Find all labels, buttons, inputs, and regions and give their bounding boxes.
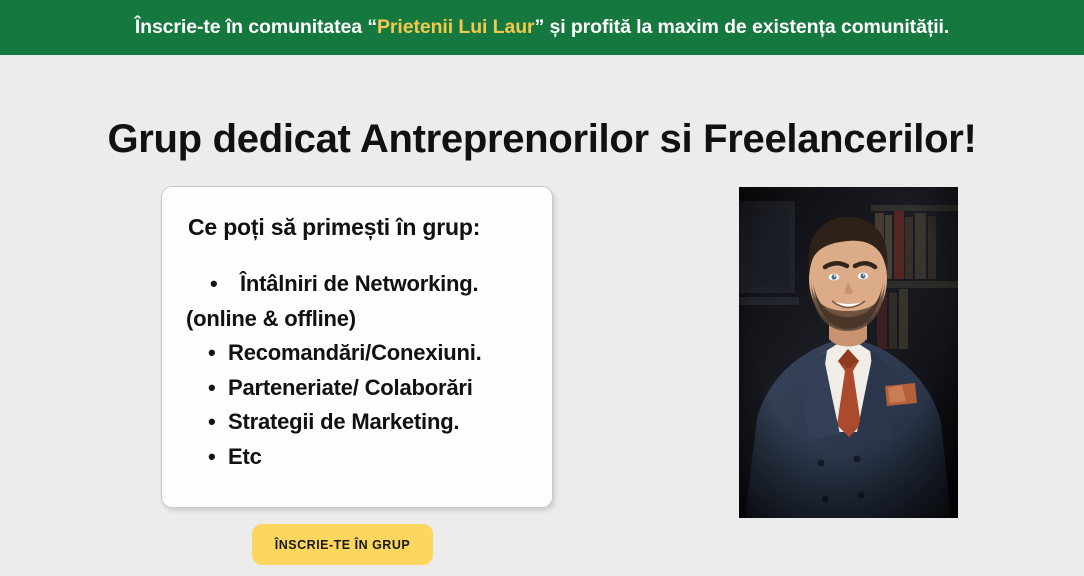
banner-text-after: ” și profită la maxim de existența comun… (535, 16, 950, 38)
list-item: Recomandări/Conexiuni. (186, 336, 528, 371)
banner-text-before: Înscrie-te în comunitatea “ (135, 16, 377, 38)
benefits-list: Întâlniri de Networking. (online & offli… (186, 267, 528, 474)
list-item-label: Parteneriate/ Colaborări (228, 375, 473, 400)
benefits-card: Ce poți să primești în grup: Întâlniri d… (161, 186, 553, 508)
list-item-label: Întâlniri de Networking. (240, 271, 478, 296)
list-item-label: Etc (228, 444, 262, 469)
benefits-card-title: Ce poți să primești în grup: (188, 213, 528, 241)
main-content: Ce poți să primești în grup: Întâlniri d… (0, 186, 1084, 526)
join-group-button[interactable]: ÎNSCRIE-TE ÎN GRUP (252, 524, 433, 565)
list-item: Întâlniri de Networking. (online & offli… (186, 267, 528, 336)
list-item: Parteneriate/ Colaborări (186, 371, 528, 406)
announcement-banner: Înscrie-te în comunitatea “Prietenii Lui… (0, 0, 1084, 55)
list-item-label: Strategii de Marketing. (228, 409, 459, 434)
list-item-subtext: (online & offline) (186, 302, 528, 337)
list-item: Strategii de Marketing. (186, 405, 528, 440)
list-item-label: Recomandări/Conexiuni. (228, 340, 482, 365)
page-title: Grup dedicat Antreprenorilor si Freelanc… (0, 115, 1084, 163)
portrait-photo (739, 187, 958, 518)
banner-highlight-text: Prietenii Lui Laur (377, 16, 534, 38)
announcement-banner-text: Înscrie-te în comunitatea “Prietenii Lui… (135, 18, 949, 38)
list-item: Etc (186, 440, 528, 475)
